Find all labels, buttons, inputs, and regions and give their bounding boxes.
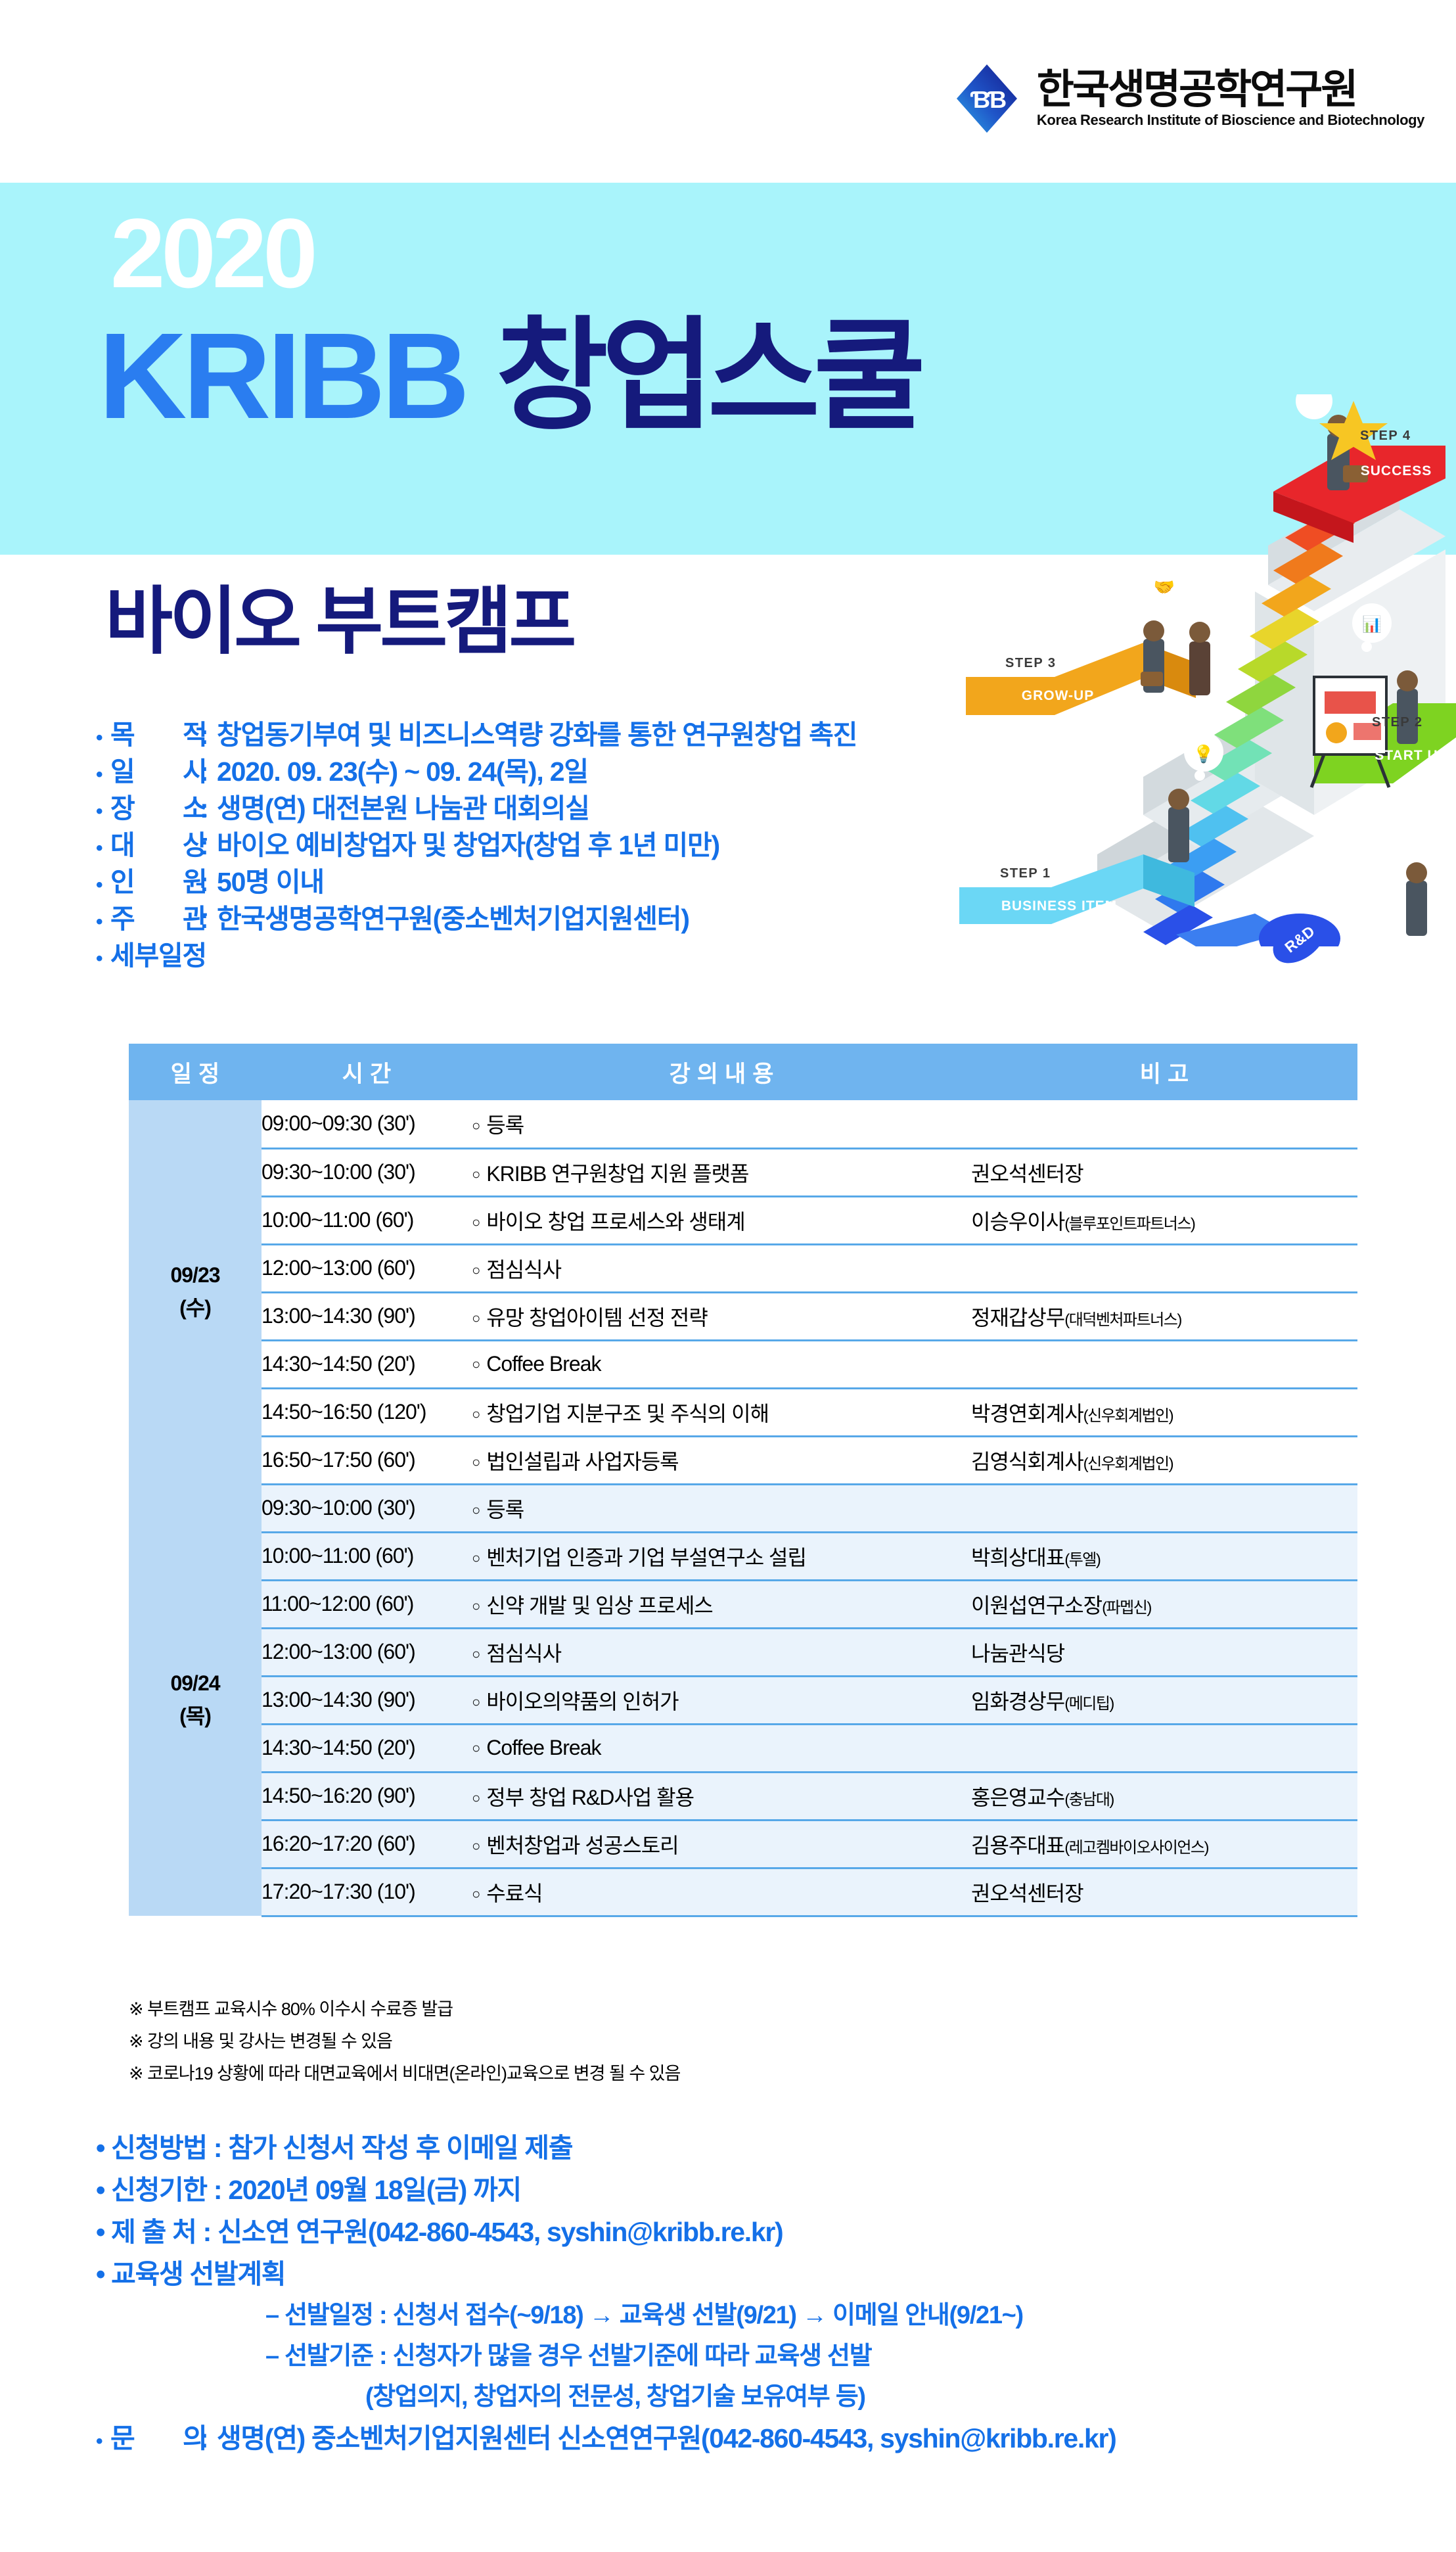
footer-selection-schedule: – 선발일정 : 신청서 접수(~9/18) → 교육생 선발(9/21) → … (96, 2295, 1384, 2336)
circle-marker-icon: ○ (472, 1262, 480, 1278)
info-colon: : (200, 864, 217, 900)
note-affiliation: (레고켐바이오사이언스) (1064, 1839, 1208, 1857)
circle-marker-icon: ○ (472, 1166, 480, 1182)
info-label-2: 원 (183, 864, 200, 900)
cell-time: 12:00~13:00 (60') (262, 1628, 472, 1676)
cell-note: 나눔관식당 (971, 1628, 1357, 1676)
cell-desc: ○벤처기업 인증과 기업 부설연구소 설립 (472, 1532, 971, 1580)
note-name: 김용주대표 (971, 1834, 1064, 1857)
circle-marker-icon: ○ (472, 1694, 480, 1710)
table-row: 14:50~16:50 (120') ○창업기업 지분구조 및 주식의 이해 박… (129, 1388, 1357, 1436)
cell-time: 13:00~14:30 (90') (262, 1676, 472, 1724)
cell-time: 14:50~16:50 (120') (262, 1388, 472, 1436)
cell-time: 14:30~14:50 (20') (262, 1724, 472, 1772)
desc-text: 수료식 (486, 1882, 542, 1905)
table-row: 11:00~12:00 (60') ○신약 개발 및 임상 프로세스 이원섭연구… (129, 1580, 1357, 1628)
cell-time: 10:00~11:00 (60') (262, 1532, 472, 1580)
cell-desc: ○법인설립과 사업자등록 (472, 1436, 971, 1484)
cell-note: 홍은영교수(충남대) (971, 1772, 1357, 1820)
footer-selection-criteria: – 선발기준 : 신청자가 많을 경우 선발기준에 따라 교육생 선발 (96, 2336, 1384, 2377)
col-header-desc: 강의내용 (472, 1044, 971, 1100)
day-date: 09/23 (170, 1263, 219, 1287)
step-2-number: STEP 2 (1372, 715, 1423, 730)
info-value: 한국생명공학연구원(중소벤처기업지원센터) (217, 900, 1081, 937)
desc-text: 벤처기업 인증과 기업 부설연구소 설립 (486, 1546, 806, 1569)
desc-text: 창업기업 지분구조 및 주식의 이해 (486, 1402, 769, 1426)
table-row: 14:30~14:50 (20') ○Coffee Break (129, 1724, 1357, 1772)
cell-note (971, 1100, 1357, 1148)
contact-value: 생명(연) 중소벤처기업지원센터 신소연연구원(042-860-4543, sy… (217, 2417, 1116, 2459)
desc-text: 등록 (486, 1113, 524, 1137)
cell-note: 이승우이사(블루포인트파트너스) (971, 1196, 1357, 1244)
cell-note: 박희상대표(투엘) (971, 1532, 1357, 1580)
note-name: 권오석센터장 (971, 1882, 1083, 1905)
desc-text: 법인설립과 사업자등록 (486, 1450, 678, 1473)
info-label: 일 (110, 753, 183, 790)
logo-english-name: Korea Research Institute of Bioscience a… (1037, 113, 1424, 128)
schedule-heading-label: 세부일정 (110, 937, 206, 974)
cell-note: 권오석센터장 (971, 1148, 1357, 1196)
note-name: 박경연회계사 (971, 1402, 1083, 1426)
cell-time: 16:20~17:20 (60') (262, 1820, 472, 1868)
note-name: 권오석센터장 (971, 1162, 1083, 1186)
footer-block: • 신청방법 : 참가 신청서 작성 후 이메일 제출 • 신청기한 : 202… (96, 2127, 1384, 2459)
table-row: 16:50~17:50 (60') ○법인설립과 사업자등록 김영식회계사(신우… (129, 1436, 1357, 1484)
info-row-host: • 주 관 : 한국생명공학연구원(중소벤처기업지원센터) (96, 900, 1081, 937)
bullet-icon: • (96, 793, 110, 830)
contact-label: 문 (110, 2417, 183, 2459)
table-row: 14:50~16:20 (90') ○정부 창업 R&D사업 활용 홍은영교수(… (129, 1772, 1357, 1820)
table-row: 09:30~10:00 (30') ○KRIBB 연구원창업 지원 플랫폼 권오… (129, 1148, 1357, 1196)
bullet-icon: • (96, 2421, 110, 2463)
note-name: 이승우이사 (971, 1210, 1064, 1234)
info-label-2: 적 (183, 716, 200, 753)
desc-text: Coffee Break (486, 1352, 601, 1376)
table-row: 10:00~11:00 (60') ○바이오 창업 프로세스와 생태계 이승우이… (129, 1196, 1357, 1244)
cell-note (971, 1340, 1357, 1388)
note-name: 나눔관식당 (971, 1642, 1064, 1665)
footer-submit-to: • 제 출 처 : 신소연 연구원(042-860-4543, syshin@k… (96, 2211, 1384, 2253)
notes-block: ※ 부트캠프 교육시수 80% 이수시 수료증 발급 ※ 강의 내용 및 강사는… (129, 1993, 680, 2090)
info-value: 50명 이내 (217, 864, 1081, 900)
info-value: 생명(연) 대전본원 나눔관 대회의실 (217, 790, 1081, 827)
table-row: 09/24 (목) 09:30~10:00 (30') ○등록 (129, 1484, 1357, 1532)
table-row: 16:20~17:20 (60') ○벤처창업과 성공스토리 김용주대표(레고켐… (129, 1820, 1357, 1868)
step-3-number: STEP 3 (1005, 656, 1057, 671)
note-name: 홍은영교수 (971, 1786, 1064, 1809)
bullet-icon: • (96, 867, 110, 904)
table-row: 13:00~14:30 (90') ○유망 창업아이템 선정 전략 정재갑상무(… (129, 1292, 1357, 1340)
col-header-time: 시간 (262, 1044, 472, 1100)
note-name: 임화경상무 (971, 1690, 1064, 1713)
institute-logo: ƁƁ 한국생명공학연구원 Korea Research Institute of… (951, 63, 1424, 134)
bullet-icon: • (96, 830, 110, 867)
table-row: 17:20~17:30 (10') ○수료식 권오석센터장 (129, 1868, 1357, 1916)
note-affiliation: (블루포인트파트너스) (1064, 1215, 1194, 1233)
info-label-2: 시 (183, 753, 200, 790)
cell-time: 10:00~11:00 (60') (262, 1196, 472, 1244)
circle-marker-icon: ○ (472, 1117, 480, 1134)
cell-desc: ○Coffee Break (472, 1340, 971, 1388)
info-label: 인 (110, 864, 183, 900)
info-row-date: • 일 시 : 2020. 09. 23(수) ~ 09. 24(목), 2일 (96, 753, 1081, 790)
info-colon: : (200, 827, 217, 864)
info-row-schedule-heading: • 세부일정 (96, 937, 1081, 974)
info-label: 장 (110, 790, 183, 827)
circle-marker-icon: ○ (472, 1790, 480, 1806)
info-row-audience: • 대 상 : 바이오 예비창업자 및 창업자(창업 후 1년 미만) (96, 827, 1081, 864)
desc-text: 정부 창업 R&D사업 활용 (486, 1786, 694, 1809)
table-row: 14:30~14:50 (20') ○Coffee Break (129, 1340, 1357, 1388)
hero-subtitle: 바이오 부트캠프 (105, 585, 573, 659)
kribb-diamond-icon: ƁƁ (951, 63, 1022, 134)
cell-time: 09:30~10:00 (30') (262, 1484, 472, 1532)
event-info-list: • 목 적 : 창업동기부여 및 비즈니스역량 강화를 통한 연구원창업 촉진 … (96, 716, 1081, 974)
step-2-name: START UP (1365, 741, 1456, 770)
cell-note (971, 1484, 1357, 1532)
info-label-2: 상 (183, 827, 200, 864)
note-affiliation: (파멥신) (1102, 1599, 1151, 1617)
note-name: 박희상대표 (971, 1546, 1064, 1569)
footer-selection-title: • 교육생 선발계획 (96, 2253, 1384, 2295)
circle-marker-icon: ○ (472, 1406, 480, 1422)
circle-marker-icon: ○ (472, 1646, 480, 1662)
info-label-2: 소 (183, 790, 200, 827)
note-affiliation: (대덕벤처파트너스) (1064, 1311, 1181, 1329)
note-affiliation: (투엘) (1064, 1551, 1100, 1569)
bullet-icon: • (96, 756, 110, 793)
info-colon: : (200, 790, 217, 827)
desc-text: 유망 창업아이템 선정 전략 (486, 1306, 708, 1330)
note-name: 이원섭연구소장 (971, 1594, 1102, 1617)
info-value: 2020. 09. 23(수) ~ 09. 24(목), 2일 (217, 753, 1081, 790)
info-row-venue: • 장 소 : 생명(연) 대전본원 나눔관 대회의실 (96, 790, 1081, 827)
cell-desc: ○수료식 (472, 1868, 971, 1916)
contact-label-2: 의 (183, 2417, 200, 2459)
note-name: 김영식회계사 (971, 1450, 1083, 1473)
hero-title-en: KRIBB (99, 308, 466, 444)
desc-text: KRIBB 연구원창업 지원 플랫폼 (486, 1162, 748, 1186)
bullet-icon: • (96, 720, 110, 756)
cell-time: 09:00~09:30 (30') (262, 1100, 472, 1148)
day-weekday: (목) (179, 1704, 211, 1728)
cell-desc: ○정부 창업 R&D사업 활용 (472, 1772, 971, 1820)
desc-text: 점심식사 (486, 1642, 561, 1665)
desc-text: 바이오 창업 프로세스와 생태계 (486, 1210, 744, 1234)
circle-marker-icon: ○ (472, 1356, 480, 1372)
poster-root: ƁƁ 한국생명공학연구원 Korea Research Institute of… (0, 0, 1456, 2552)
info-label: 대 (110, 827, 183, 864)
cell-note: 이원섭연구소장(파멥신) (971, 1580, 1357, 1628)
circle-marker-icon: ○ (472, 1310, 480, 1326)
footer-selection-criteria-2: (창업의지, 창업자의 전문성, 창업기술 보유여부 등) (96, 2377, 1384, 2417)
cell-desc: ○바이오의약품의 인허가 (472, 1676, 971, 1724)
col-header-note: 비고 (971, 1044, 1357, 1100)
cell-desc: ○Coffee Break (472, 1724, 971, 1772)
note-affiliation: (신우회계법인) (1083, 1407, 1173, 1425)
cell-note (971, 1724, 1357, 1772)
schedule-table: 일정 시간 강의내용 비고 09/23 (수) 09:00~09:30 (30'… (129, 1044, 1357, 1917)
contact-colon: : (200, 2417, 217, 2459)
svg-text:ƁƁ: ƁƁ (970, 86, 1006, 113)
info-value: 창업동기부여 및 비즈니스역량 강화를 통한 연구원창업 촉진 (217, 716, 1081, 753)
cell-time: 14:50~16:20 (90') (262, 1772, 472, 1820)
cell-note: 김용주대표(레고켐바이오사이언스) (971, 1820, 1357, 1868)
schedule-table-wrap: 일정 시간 강의내용 비고 09/23 (수) 09:00~09:30 (30'… (129, 1044, 1357, 1917)
footer-apply-method: • 신청방법 : 참가 신청서 작성 후 이메일 제출 (96, 2127, 1384, 2169)
note-line-3: ※ 코로나19 상황에 따라 대면교육에서 비대면(온라인)교육으로 변경 될 … (129, 2058, 680, 2090)
bullet-icon: • (96, 904, 110, 940)
table-row: 10:00~11:00 (60') ○벤처기업 인증과 기업 부설연구소 설립 … (129, 1532, 1357, 1580)
svg-text:💡: 💡 (1193, 744, 1214, 764)
table-row: 12:00~13:00 (60') ○점심식사 나눔관식당 (129, 1628, 1357, 1676)
hero-title-ko: 창업스쿨 (496, 308, 919, 444)
desc-text: 바이오의약품의 인허가 (486, 1690, 678, 1713)
schedule-table-body: 09/23 (수) 09:00~09:30 (30') ○등록 09:30~10… (129, 1100, 1357, 1916)
cell-desc: ○바이오 창업 프로세스와 생태계 (472, 1196, 971, 1244)
cell-time: 09:30~10:00 (30') (262, 1148, 472, 1196)
logo-korean-name: 한국생명공학연구원 (1037, 70, 1424, 110)
hero-title: KRIBB 창업스쿨 (99, 315, 919, 438)
cell-time: 13:00~14:30 (90') (262, 1292, 472, 1340)
col-header-day: 일정 (129, 1044, 262, 1100)
circle-marker-icon: ○ (472, 1886, 480, 1902)
desc-text: 점심식사 (486, 1258, 561, 1282)
hero-year: 2020 (110, 204, 314, 302)
cell-note (971, 1244, 1357, 1292)
cell-note: 정재갑상무(대덕벤처파트너스) (971, 1292, 1357, 1340)
day-cell-2: 09/24 (목) (129, 1484, 262, 1916)
day-cell-1: 09/23 (수) (129, 1100, 262, 1484)
note-line-2: ※ 강의 내용 및 강사는 변경될 수 있음 (129, 2026, 680, 2058)
info-colon: : (200, 716, 217, 753)
info-colon: : (200, 900, 217, 937)
cell-note: 박경연회계사(신우회계법인) (971, 1388, 1357, 1436)
cell-time: 14:30~14:50 (20') (262, 1340, 472, 1388)
cell-desc: ○점심식사 (472, 1244, 971, 1292)
cell-desc: ○신약 개발 및 임상 프로세스 (472, 1580, 971, 1628)
desc-text: 등록 (486, 1498, 524, 1521)
info-row-purpose: • 목 적 : 창업동기부여 및 비즈니스역량 강화를 통한 연구원창업 촉진 (96, 716, 1081, 753)
cell-desc: ○창업기업 지분구조 및 주식의 이해 (472, 1388, 971, 1436)
table-row: 12:00~13:00 (60') ○점심식사 (129, 1244, 1357, 1292)
note-affiliation: (충남대) (1064, 1791, 1114, 1809)
note-name: 정재갑상무 (971, 1306, 1064, 1330)
day-weekday: (수) (179, 1296, 211, 1320)
cell-time: 12:00~13:00 (60') (262, 1244, 472, 1292)
info-row-capacity: • 인 원 : 50명 이내 (96, 864, 1081, 900)
cell-desc: ○등록 (472, 1484, 971, 1532)
footer-contact: • 문 의 : 생명(연) 중소벤처기업지원센터 신소연연구원(042-860-… (96, 2417, 1384, 2459)
circle-marker-icon: ○ (472, 1454, 480, 1470)
circle-marker-icon: ○ (472, 1838, 480, 1854)
step-4-name: SUCCESS (1354, 457, 1439, 486)
table-header-row: 일정 시간 강의내용 비고 (129, 1044, 1357, 1100)
circle-marker-icon: ○ (472, 1214, 480, 1230)
circle-marker-icon: ○ (472, 1740, 480, 1756)
info-label: 목 (110, 716, 183, 753)
step-4-number: STEP 4 (1360, 429, 1411, 444)
info-value: 바이오 예비창업자 및 창업자(창업 후 1년 미만) (217, 827, 1081, 864)
cell-time: 16:50~17:50 (60') (262, 1436, 472, 1484)
step-3-name: GROW-UP (999, 682, 1117, 710)
svg-text:📊: 📊 (1362, 615, 1382, 634)
circle-marker-icon: ○ (472, 1550, 480, 1566)
desc-text: 벤처창업과 성공스토리 (486, 1834, 678, 1857)
cell-note: 권오석센터장 (971, 1868, 1357, 1916)
cell-time: 17:20~17:30 (10') (262, 1868, 472, 1916)
bullet-icon: • (96, 940, 110, 977)
cell-note: 임화경상무(메디팁) (971, 1676, 1357, 1724)
note-affiliation: (신우회계법인) (1083, 1455, 1173, 1473)
footer-apply-deadline: • 신청기한 : 2020년 09월 18일(금) 까지 (96, 2169, 1384, 2211)
cell-desc: ○벤처창업과 성공스토리 (472, 1820, 971, 1868)
cell-time: 11:00~12:00 (60') (262, 1580, 472, 1628)
desc-text: Coffee Break (486, 1736, 601, 1759)
note-affiliation: (메디팁) (1064, 1695, 1114, 1713)
circle-marker-icon: ○ (472, 1598, 480, 1614)
cell-desc: ○등록 (472, 1100, 971, 1148)
note-line-1: ※ 부트캠프 교육시수 80% 이수시 수료증 발급 (129, 1993, 680, 2026)
day-date: 09/24 (170, 1671, 219, 1695)
info-colon: : (200, 753, 217, 790)
cell-note: 김영식회계사(신우회계법인) (971, 1436, 1357, 1484)
desc-text: 신약 개발 및 임상 프로세스 (486, 1594, 712, 1617)
cell-desc: ○KRIBB 연구원창업 지원 플랫폼 (472, 1148, 971, 1196)
table-row: 13:00~14:30 (90') ○바이오의약품의 인허가 임화경상무(메디팁… (129, 1676, 1357, 1724)
info-label: 주 (110, 900, 183, 937)
circle-marker-icon: ○ (472, 1502, 480, 1518)
cell-desc: ○점심식사 (472, 1628, 971, 1676)
info-label-2: 관 (183, 900, 200, 937)
cell-desc: ○유망 창업아이템 선정 전략 (472, 1292, 971, 1340)
table-row: 09/23 (수) 09:00~09:30 (30') ○등록 (129, 1100, 1357, 1148)
svg-text:🤝: 🤝 (1154, 577, 1175, 597)
